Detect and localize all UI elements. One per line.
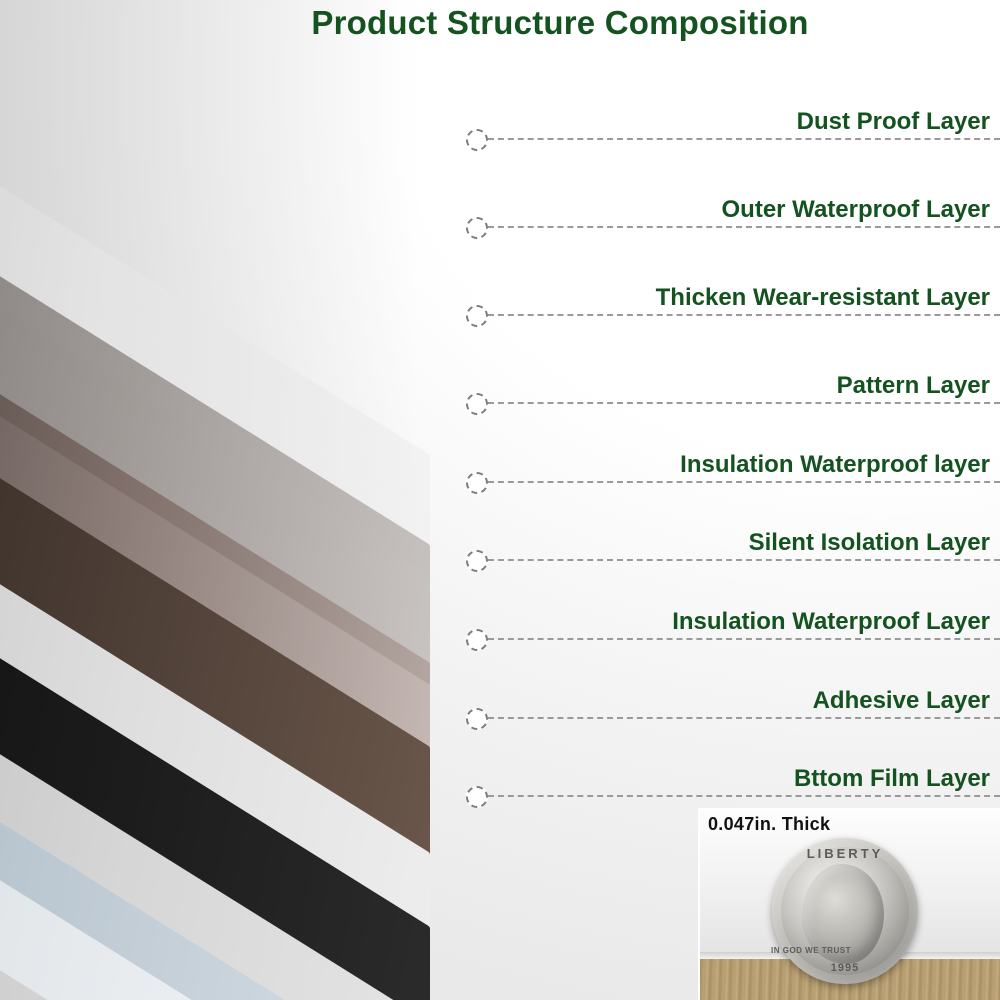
leader-node-icon (466, 708, 488, 730)
callout-label: Thicken Wear-resistant Layer (470, 286, 1000, 316)
leader-node-icon (466, 629, 488, 651)
coin-liberty-text: LIBERTY (772, 846, 918, 861)
callout-label: Insulation Waterproof Layer (470, 610, 1000, 640)
layer-stack (0, 0, 530, 1000)
callout-thicken-wear-resistant: Thicken Wear-resistant Layer (470, 276, 1000, 316)
leader-node-icon (466, 472, 488, 494)
leader-line (488, 402, 1000, 404)
leader-node-icon (466, 217, 488, 239)
callout-label: Outer Waterproof Layer (470, 198, 1000, 228)
callout-adhesive: Adhesive Layer (470, 679, 1000, 719)
callout-label: Insulation Waterproof layer (470, 453, 1000, 483)
leader-line (488, 795, 1000, 797)
coin-year-text: 1995 (772, 962, 918, 974)
leader-line (488, 226, 1000, 228)
leader-line (488, 314, 1000, 316)
leader-line (488, 559, 1000, 561)
leader-node-icon (466, 393, 488, 415)
leader-line (488, 638, 1000, 640)
callout-outer-waterproof: Outer Waterproof Layer (470, 188, 1000, 228)
thickness-inset: LIBERTY IN GOD WE TRUST 1995 0.047in. Th… (698, 808, 1000, 1000)
callout-insulation-waterproof-lowercase: Insulation Waterproof layer (470, 443, 1000, 483)
callout-label: Bttom Film Layer (470, 767, 1000, 797)
leader-line (488, 717, 1000, 719)
callout-label: Adhesive Layer (470, 689, 1000, 719)
leader-node-icon (466, 786, 488, 808)
quarter-coin: LIBERTY IN GOD WE TRUST 1995 (772, 838, 918, 984)
callout-pattern: Pattern Layer (470, 364, 1000, 404)
callout-dust-proof: Dust Proof Layer (470, 100, 1000, 140)
callout-label: Dust Proof Layer (470, 110, 1000, 140)
callout-label: Pattern Layer (470, 374, 1000, 404)
diagram-page: Product Structure Composition Dust Proof… (0, 0, 1000, 1000)
callout-bottom-film: Bttom Film Layer (470, 757, 1000, 797)
leader-node-icon (466, 305, 488, 327)
leader-line (488, 481, 1000, 483)
leader-line (488, 138, 1000, 140)
leader-node-icon (466, 550, 488, 572)
thickness-caption: 0.047in. Thick (708, 814, 830, 835)
callout-label: Silent Isolation Layer (470, 531, 1000, 561)
coin-motto-text: IN GOD WE TRUST (738, 946, 884, 955)
callout-insulation-waterproof: Insulation Waterproof Layer (470, 600, 1000, 640)
leader-node-icon (466, 129, 488, 151)
callout-silent-isolation: Silent Isolation Layer (470, 521, 1000, 561)
